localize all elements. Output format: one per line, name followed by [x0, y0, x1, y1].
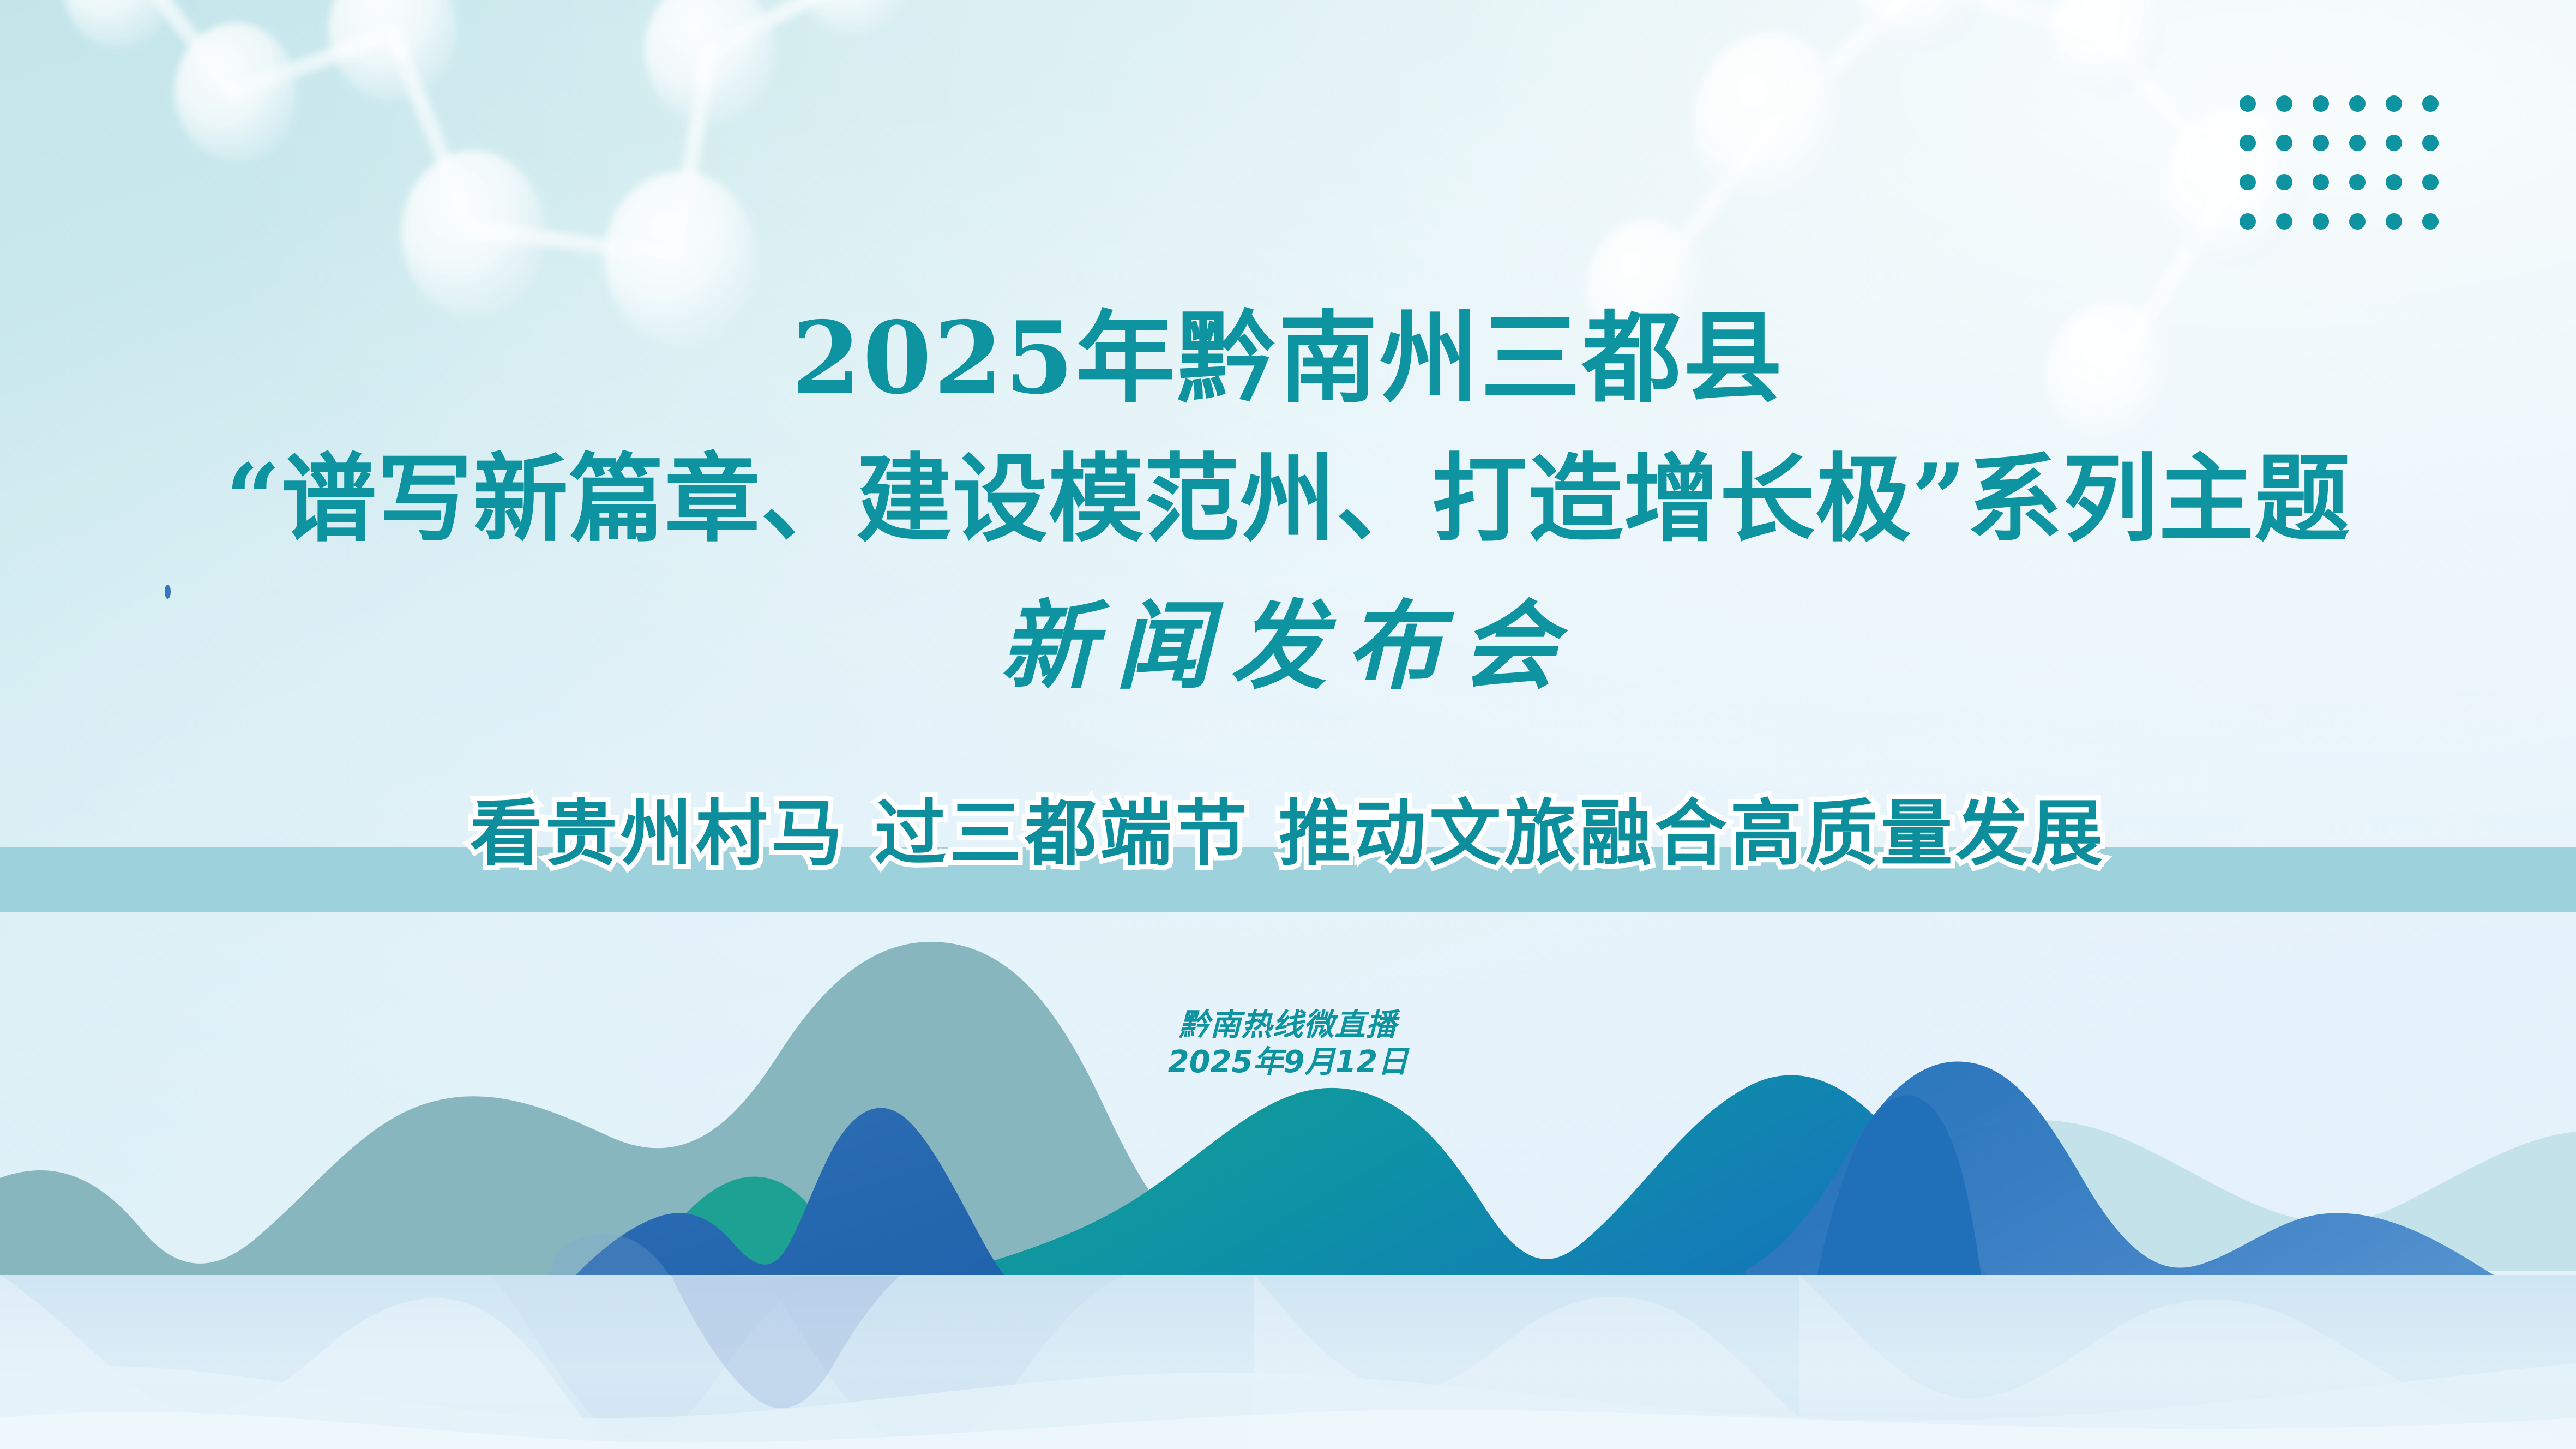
credits-date: 2025年9月12日 [0, 1044, 2576, 1081]
title-line-1: 2025年黔南州三都县 [0, 308, 2576, 407]
text-layer: 2025年黔南州三都县 “谱写新篇章、建设模范州、打造增长极”系列主题 新闻发布… [0, 0, 2576, 1449]
title-line-2: “谱写新篇章、建设模范州、打造增长极”系列主题 [0, 452, 2576, 547]
subtitle: 看贵州村马 过三都端节 推动文旅融合高质量发展 [0, 798, 2576, 870]
title-line-3: 新闻发布会 [0, 599, 2576, 695]
poster-canvas: 2025年黔南州三都县 “谱写新篇章、建设模范州、打造增长极”系列主题 新闻发布… [0, 0, 2576, 1449]
stray-speck [165, 585, 171, 599]
credits-block: 黔南热线微直播 2025年9月12日 [0, 1007, 2576, 1081]
credits-channel: 黔南热线微直播 [0, 1007, 2576, 1044]
